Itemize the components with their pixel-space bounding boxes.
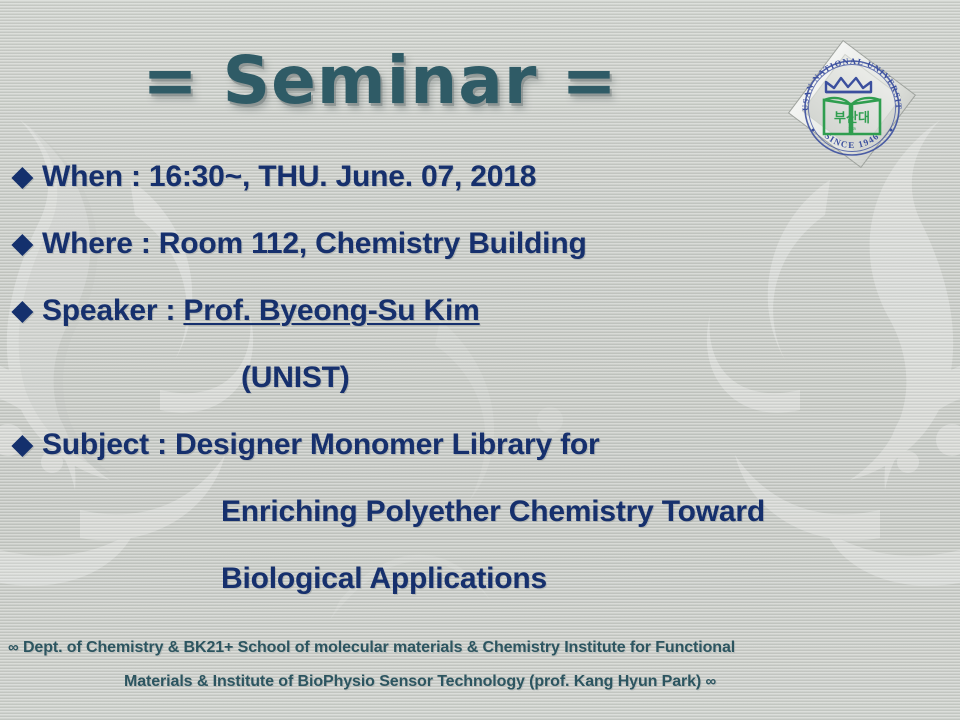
title-block: = Seminar =	[0, 42, 760, 119]
diamond-bullet-icon: ◆	[12, 295, 42, 326]
watermark-flourish-right	[700, 110, 960, 630]
subject-label: Subject :	[42, 428, 175, 461]
speaker-label: Speaker :	[42, 294, 183, 327]
footer-line-2: Materials & Institute of BioPhysio Senso…	[124, 673, 716, 691]
seminar-poster-slide: = Seminar =	[0, 0, 960, 720]
speaker-affiliation: (UNIST)	[241, 361, 350, 395]
watermark-flourish-center	[300, 300, 640, 660]
diamond-bullet-icon: ◆	[12, 429, 42, 460]
svg-text:1946: 1946	[848, 126, 856, 131]
when-value: 16:30~, THU. June. 07, 2018	[149, 160, 536, 193]
when-label: When :	[42, 160, 149, 193]
footer-text-2: Materials & Institute of BioPhysio Senso…	[124, 673, 701, 690]
speaker-name: Prof. Byeong-Su Kim	[183, 294, 479, 327]
logo-emblem-text: 부산대	[834, 110, 870, 126]
where-line: ◆Where : Room 112, Chemistry Building	[12, 227, 587, 261]
pusan-national-university-logo: PUSAN NATIONAL UNIVERSITY SINCE 1946 부산대…	[786, 38, 918, 170]
subject-line: ◆Subject : Designer Monomer Library for	[12, 428, 600, 462]
footer-line-1: ∞ Dept. of Chemistry & BK21+ School of m…	[8, 639, 735, 657]
where-label: Where :	[42, 227, 159, 260]
diamond-bullet-icon: ◆	[12, 228, 42, 259]
subject-text-line-2: Enriching Polyether Chemistry Toward	[221, 495, 765, 529]
speaker-line: ◆Speaker : Prof. Byeong-Su Kim	[12, 294, 480, 328]
footer-text-1: Dept. of Chemistry & BK21+ School of mol…	[23, 639, 735, 656]
subject-text-line-3: Biological Applications	[221, 562, 547, 596]
subject-text-line-1: Designer Monomer Library for	[175, 428, 599, 461]
infinity-icon: ∞	[706, 673, 717, 690]
infinity-icon: ∞	[8, 639, 19, 656]
page-title: = Seminar =	[142, 42, 617, 119]
where-value: Room 112, Chemistry Building	[159, 227, 587, 260]
when-line: ◆When : 16:30~, THU. June. 07, 2018	[12, 160, 536, 194]
diamond-bullet-icon: ◆	[12, 161, 42, 192]
